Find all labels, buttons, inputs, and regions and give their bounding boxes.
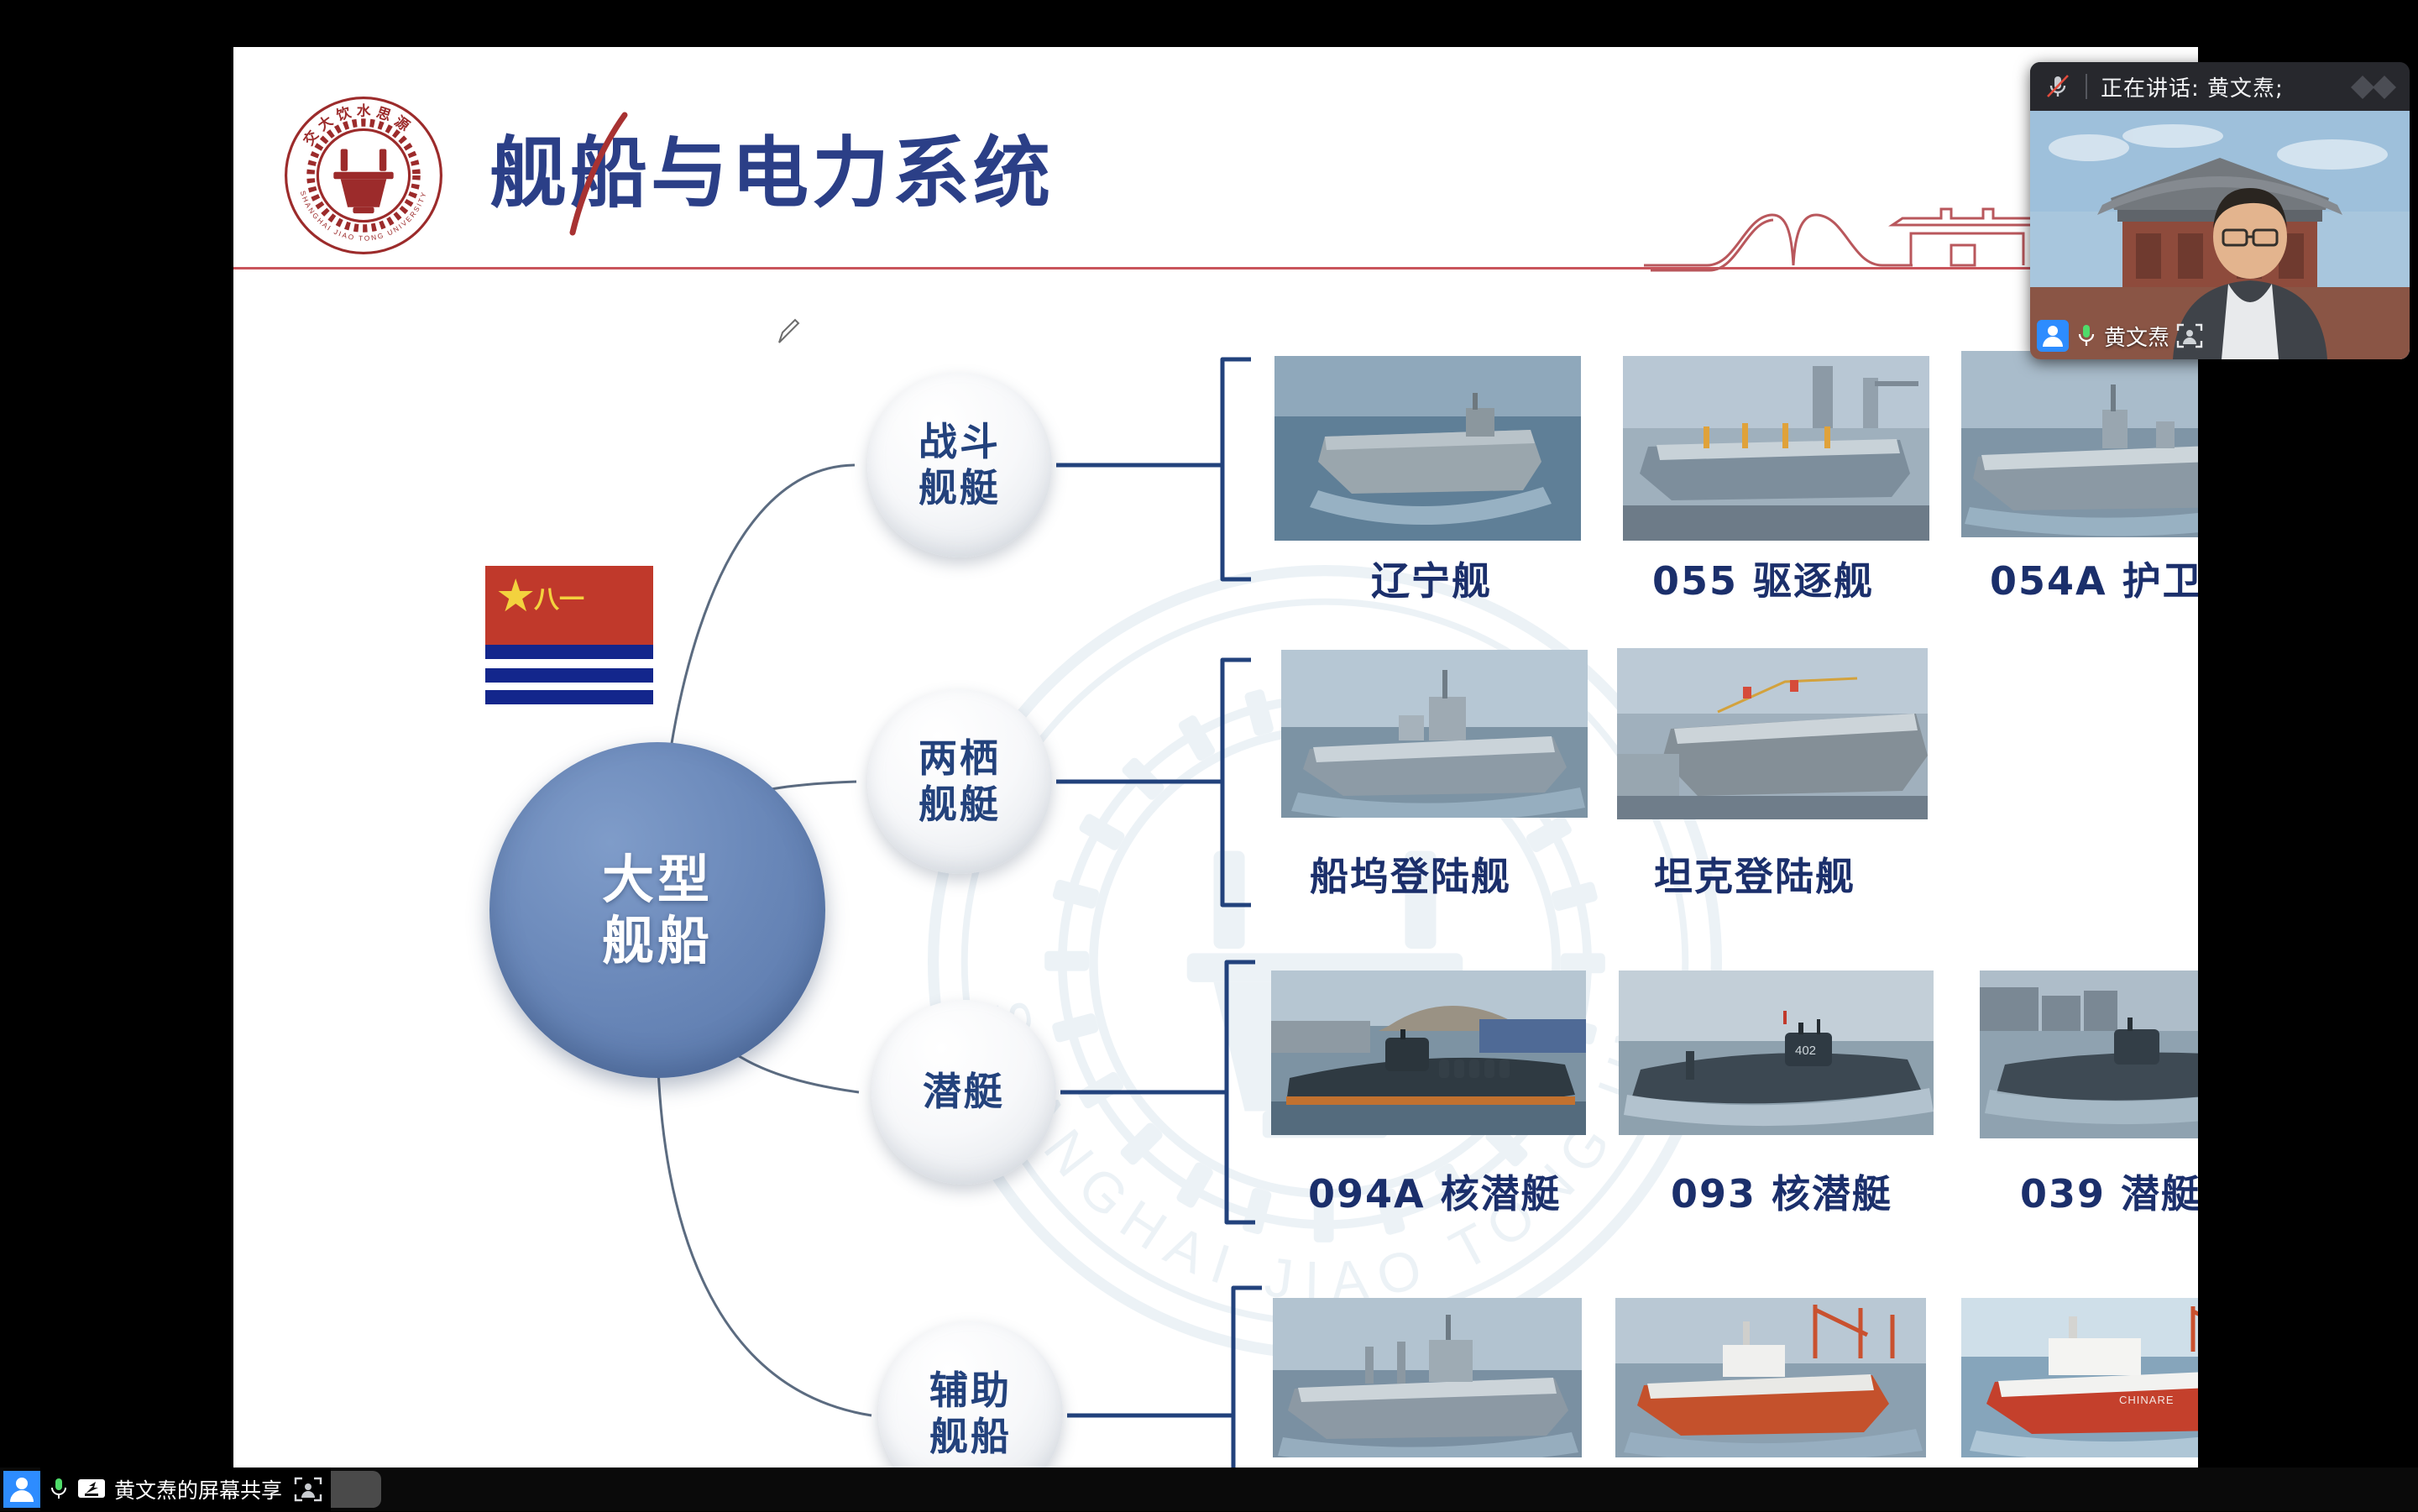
ship-caption: 054A 护卫舰 [1990, 551, 2198, 606]
zoom-video-panel[interactable]: 正在讲话: 黄文焘; [2030, 62, 2410, 359]
mindmap-category-combat[interactable]: 战斗 舰艇 [867, 373, 1052, 557]
ship-photo-tile[interactable] [1281, 650, 1588, 818]
participant-badge: 黄文焘 [2037, 319, 2203, 353]
shared-slide: SHANGHAI JIAO TONG UNIVERSITY [233, 47, 2198, 1489]
category-label-line1: 战斗 [919, 419, 1001, 465]
ship-caption: 辽宁舰 [1371, 551, 1492, 606]
icebreaker-xuelong2-photo: CHINARE [1961, 1298, 2198, 1457]
flag-stripe-3 [485, 690, 653, 704]
ship-photo-tile[interactable] [1273, 1298, 1582, 1457]
speaker-video-feed[interactable]: 黄文焘 [2030, 111, 2410, 359]
pla-navy-flag-icon: ★ 八一 [485, 566, 653, 700]
submarine-039-photo [1980, 971, 2198, 1138]
ship-photo-tile[interactable]: 402 [1619, 971, 1934, 1135]
taskbar-label: 黄文焘的屏幕共享 [114, 1474, 282, 1504]
mindmap-category-amphibious[interactable]: 两栖 舰艇 [867, 689, 1052, 874]
video-panel-header: 正在讲话: 黄文焘; [2030, 62, 2410, 111]
destroyer-at-dock-photo [1623, 356, 1929, 541]
mic-active-icon [49, 1476, 69, 1503]
ship-photo-tile[interactable] [1615, 1298, 1926, 1457]
frigate-at-sea-photo [1961, 351, 2198, 537]
survey-ship-photo [1615, 1298, 1926, 1457]
person-icon [2037, 320, 2069, 352]
ship-photo-tile[interactable] [1271, 971, 1586, 1135]
ship-caption: 坦克登陆舰 [1654, 846, 1855, 902]
ship-caption: 039 潜艇 [2020, 1164, 2198, 1219]
flag-stripe-1 [485, 645, 653, 659]
mic-muted-icon[interactable] [2044, 72, 2072, 101]
category-label-line2: 舰船 [929, 1414, 1012, 1460]
focus-frame-icon[interactable] [294, 1477, 322, 1502]
category-label-line2: 舰艇 [919, 782, 1001, 828]
mindmap-category-auxiliary[interactable]: 辅助 舰船 [878, 1321, 1063, 1489]
participant-name: 黄文焘 [2104, 321, 2169, 352]
ship-photo-tile[interactable] [1980, 971, 2198, 1138]
sjtu-seal-icon: 交 大 饮 水 思 源 SHANGHAI JIAO TONG UNIVERSIT… [275, 87, 452, 264]
screen-root: SHANGHAI JIAO TONG UNIVERSITY [0, 0, 2418, 1511]
header-divider [2086, 74, 2087, 99]
ship-caption: 055 驱逐舰 [1652, 551, 1874, 606]
svg-text:402: 402 [1795, 1044, 1816, 1058]
screen-share-icon [77, 1478, 106, 1500]
person-icon[interactable] [3, 1471, 40, 1508]
dock-landing-ship-photo [1281, 650, 1588, 818]
page-title: 舰船与电力系统 [489, 135, 1054, 212]
zoom-logo-icon [2346, 69, 2401, 106]
ship-photo-tile[interactable] [1274, 356, 1581, 541]
ship-caption: 094A 核潜艇 [1308, 1164, 1562, 1219]
ship-photo-tile[interactable] [1961, 351, 2198, 537]
flag-star: ★ [495, 579, 534, 618]
active-speaker-label: 正在讲话: 黄文焘; [2101, 71, 2284, 102]
category-label-line2: 舰艇 [919, 465, 1001, 511]
ship-caption: 093 核潜艇 [1671, 1164, 1892, 1219]
focus-frame-icon[interactable] [2176, 323, 2203, 348]
category-label-line1: 两栖 [919, 735, 1001, 782]
taskbar-tail [331, 1471, 381, 1508]
ship-photo-tile[interactable]: CHINARE [1961, 1298, 2198, 1457]
mindmap-category-submarine[interactable]: 潜艇 [871, 1000, 1056, 1185]
mic-active-icon [2075, 322, 2097, 350]
nuclear-submarine-094a-photo [1271, 971, 1586, 1135]
flag-text: 八一 [534, 588, 584, 613]
flag-stripe-2 [485, 668, 653, 683]
screen-share-indicator[interactable]: 黄文焘的屏幕共享 [40, 1468, 331, 1511]
nuclear-submarine-093-photo: 402 [1619, 971, 1934, 1135]
aircraft-carrier-photo [1274, 356, 1581, 541]
ship-caption: 船坞登陆舰 [1310, 846, 1511, 902]
tank-landing-ship-photo [1617, 648, 1928, 819]
svg-text:CHINARE: CHINARE [2119, 1394, 2175, 1406]
category-label-line1: 潜艇 [923, 1069, 1005, 1115]
ship-photo-tile[interactable] [1617, 648, 1928, 819]
pen-annotation-icon [775, 317, 800, 346]
category-label-line1: 辅助 [929, 1368, 1012, 1414]
center-node-line1: 大型 [602, 849, 713, 910]
ship-photo-tile[interactable] [1623, 356, 1929, 541]
center-node-line2: 舰船 [602, 910, 713, 971]
taskbar: 黄文焘的屏幕共享 [0, 1468, 2418, 1511]
mindmap-center-node[interactable]: 大型 舰船 [489, 742, 825, 1078]
replenishment-ship-photo [1273, 1298, 1582, 1457]
